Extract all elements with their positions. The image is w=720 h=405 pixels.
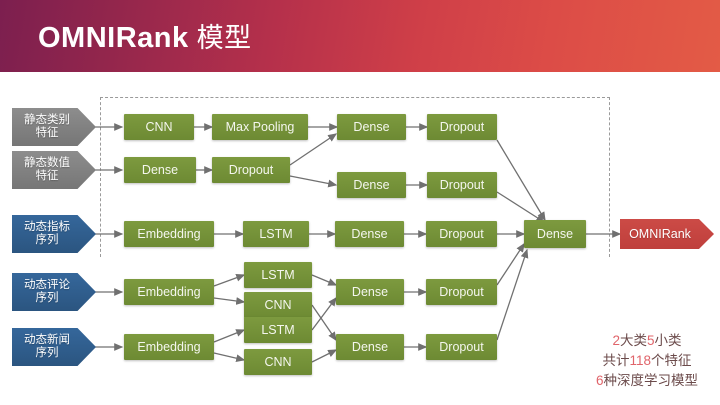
slide: OMNIRank 模型 — [0, 0, 720, 405]
node-dropout-branch4[interactable]: Dropout — [426, 279, 497, 305]
stats-text-categories: 大类 — [620, 333, 647, 348]
page-title: OMNIRank 模型 — [38, 16, 252, 55]
input-label-line1: 动态评论 — [24, 279, 70, 292]
stats-text-subcategories: 小类 — [655, 333, 682, 348]
input-static-category[interactable]: 静态类别 特征 — [12, 108, 96, 146]
input-label-line2: 特征 — [36, 170, 59, 183]
input-label-line1: 动态指标 — [24, 221, 70, 234]
input-label-line2: 序列 — [36, 292, 59, 305]
page-title-cjk: 模型 — [189, 23, 252, 53]
input-label-line1: 动态新闻 — [24, 334, 70, 347]
node-dropout-branch5[interactable]: Dropout — [426, 334, 497, 360]
node-dense-branch4[interactable]: Dense — [336, 279, 404, 305]
input-label-line1: 静态类别 — [24, 114, 70, 127]
input-label-line2: 序列 — [36, 234, 59, 247]
node-cnn-review[interactable]: CNN — [244, 292, 312, 318]
node-dense-branch2[interactable]: Dense — [337, 172, 406, 198]
node-embedding-review[interactable]: Embedding — [124, 279, 214, 305]
stats-line-1: 2大类5小类 — [596, 331, 698, 351]
diagram-canvas: 静态类别 特征 静态数值 特征 动态指标 序列 动态评论 序列 动态新闻 序列 … — [0, 72, 720, 405]
node-lstm-review[interactable]: LSTM — [244, 262, 312, 288]
node-dense-branch3[interactable]: Dense — [335, 221, 404, 247]
node-dense-branch1[interactable]: Dense — [337, 114, 406, 140]
input-dynamic-review[interactable]: 动态评论 序列 — [12, 273, 96, 311]
node-dense-static-numeric[interactable]: Dense — [124, 157, 196, 183]
page-title-en: OMNIRank — [38, 22, 189, 54]
stats-num-categories: 2 — [612, 333, 620, 348]
stats-text-models: 种深度学习模型 — [604, 373, 699, 388]
input-dynamic-news[interactable]: 动态新闻 序列 — [12, 328, 96, 366]
node-max-pooling[interactable]: Max Pooling — [212, 114, 308, 140]
node-lstm-news[interactable]: LSTM — [244, 317, 312, 343]
output-omnirank[interactable]: OMNIRank — [620, 219, 714, 249]
node-dense-branch5[interactable]: Dense — [336, 334, 404, 360]
node-dropout-static-numeric[interactable]: Dropout — [212, 157, 290, 183]
node-lstm-metric[interactable]: LSTM — [243, 221, 309, 247]
stats-text-total: 共计 — [602, 353, 629, 368]
model-stats: 2大类5小类 共计118个特征 6种深度学习模型 — [596, 331, 698, 391]
node-dropout-branch3[interactable]: Dropout — [426, 221, 497, 247]
node-cnn-static-category[interactable]: CNN — [124, 114, 194, 140]
slide-header: OMNIRank 模型 — [0, 0, 720, 72]
input-label-line1: 静态数值 — [24, 157, 70, 170]
input-label-line2: 特征 — [36, 127, 59, 140]
stats-num-features: 118 — [629, 353, 651, 368]
stats-text-features: 个特征 — [651, 353, 692, 368]
stats-line-2: 共计118个特征 — [596, 351, 698, 371]
node-dropout-branch1[interactable]: Dropout — [427, 114, 497, 140]
stats-line-3: 6种深度学习模型 — [596, 371, 698, 391]
node-embedding-news[interactable]: Embedding — [124, 334, 214, 360]
stats-num-subcategories: 5 — [647, 333, 655, 348]
input-label-line2: 序列 — [36, 347, 59, 360]
node-embedding-metric[interactable]: Embedding — [124, 221, 214, 247]
stats-num-models: 6 — [596, 373, 604, 388]
input-dynamic-metric[interactable]: 动态指标 序列 — [12, 215, 96, 253]
node-dense-merge[interactable]: Dense — [524, 220, 586, 248]
node-dropout-branch2[interactable]: Dropout — [427, 172, 497, 198]
node-cnn-news[interactable]: CNN — [244, 349, 312, 375]
input-static-numeric[interactable]: 静态数值 特征 — [12, 151, 96, 189]
